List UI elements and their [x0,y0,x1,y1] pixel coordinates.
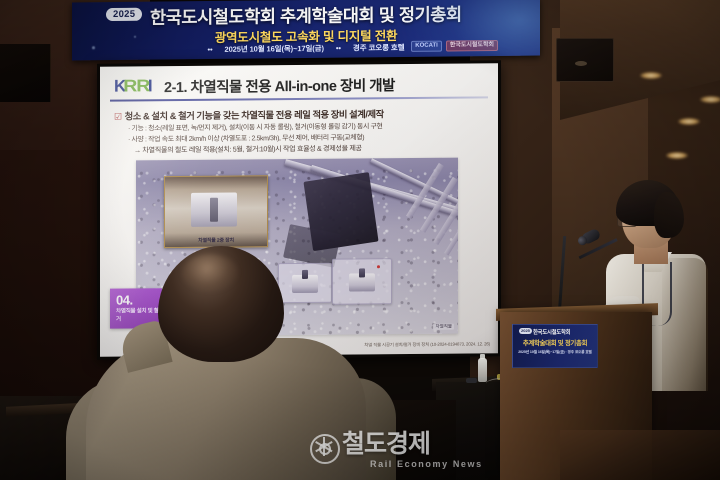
table-item-device [466,378,477,383]
banner-bullet-left: •• [207,45,212,54]
slide-footnote: 차열 직물 시공기 설치/철거 장비 장치 (10-2024-0194873, … [364,341,490,348]
ceiling-light [666,152,688,159]
banner-logo-society: 한국도시철도학회 [446,40,498,52]
photo-inset-closeup: 차열직물 2중 장치 [164,175,268,248]
ceiling-speaker-right [556,38,614,82]
ceiling-light [700,96,720,103]
slide-sub-bullet-2: · 사양 : 작업 속도 최대 2km/h 이상 (차열도포 : 2.5km/3… [128,130,488,143]
podium-sign-line1: 한국도시철도학회 [533,328,570,336]
conference-banner: 2025 한국도시철도학회 추계학술대회 및 정기총회 광역도시철도 고속화 및… [72,0,540,60]
slide-title: 2-1. 차열직물 전용 All-in-one 장비 개발 [164,73,484,97]
audience-head-highlight [182,254,238,292]
slide-arrow-line: → 차열직물의 철도 레일 적용(설치: 5월, 철거:10월)시 작업 효율성… [134,142,494,155]
ceiling-speaker-left [0,44,51,102]
screenshot-root: 2025 한국도시철도학회 추계학술대회 및 정기총회 광역도시철도 고속화 및… [0,0,720,480]
checkmark-icon: ☑ [114,112,122,123]
rail-wheel-icon [310,434,340,464]
podium-sign: 2025 한국도시철도학회 추계학술대회 및 정기총회 2025년 10월 16… [512,324,598,368]
banner-date: 2025년 10월 16일(목)~17일(금) [225,44,324,54]
banner-inner: 2025 한국도시철도학회 추계학술대회 및 정기총회 광역도시철도 고속화 및… [72,0,540,60]
inset-caption: 차열직물 2중 장치 [165,236,267,244]
watermark-tagline: Rail Economy News [370,459,483,469]
watermark-brand: 철도경제 [342,430,430,458]
watermark: 철도경제 Rail Economy News [306,428,486,474]
carpet [560,430,720,480]
speaker-grille [575,61,587,66]
podium-sign-line2: 추계학술대회 및 정기총회 [513,338,597,347]
krri-logo-icon: KRRI [114,77,152,95]
banner-logo-kocati: KOCATI [411,41,442,52]
banner-logo-row: KOCATI 한국도시철도학회 [411,40,498,52]
ceiling-light [640,72,662,79]
presenter-hair-side [654,192,684,238]
banner-venue: 경주 코오롱 호텔 [353,43,405,53]
inset-device [191,193,237,227]
podium-sign-badge: 2025 [519,328,532,334]
ceiling-light [678,118,700,125]
highlight-dot [377,265,380,268]
banner-bullet-right: •• [336,44,341,53]
photo-tag: 차열직물 [433,324,454,330]
banner-year-badge: 2025 [106,8,142,21]
podium-sign-line3: 2025년 10월 16일(목)~17일(금) · 경주 코오롱 호텔 [513,350,597,355]
water-bottle [478,358,487,382]
krri-logo-wave: RR [124,77,150,95]
